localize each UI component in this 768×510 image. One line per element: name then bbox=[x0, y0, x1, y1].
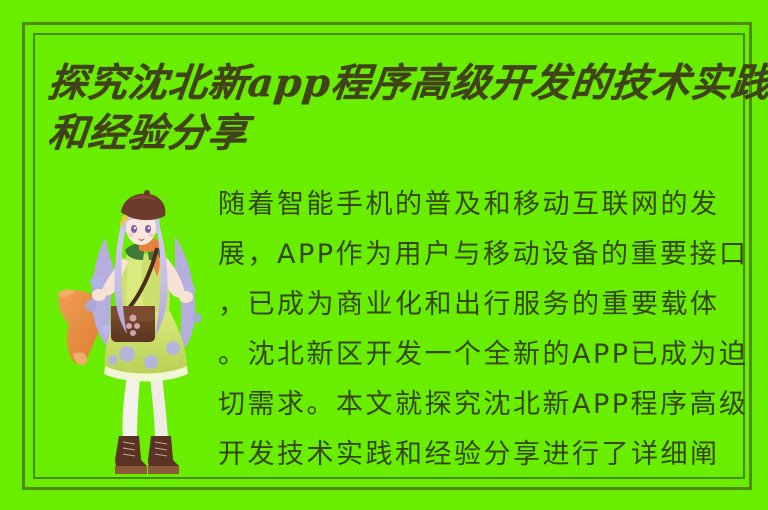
body-line-6: 开发技术实践和经验分享进行了详细阐 bbox=[218, 430, 738, 480]
boots bbox=[115, 436, 179, 474]
body-line-4: 。沈北新区开发一个全新的APP已成为迫 bbox=[218, 330, 738, 380]
body-line-2: 展，APP作为用户与移动设备的重要接口 bbox=[218, 230, 738, 280]
article-title: 探究沈北新app程序高级开发的技术实践 和经验分享 bbox=[48, 58, 748, 158]
body-line-3: ，已成为商业化和出行服务的重要载体 bbox=[218, 280, 738, 330]
title-line-2: 和经验分享 bbox=[45, 108, 750, 158]
article-body: 随着智能手机的普及和移动互联网的发 展，APP作为用户与移动设备的重要接口 ，已… bbox=[218, 180, 738, 480]
poster-canvas: 探究沈北新app程序高级开发的技术实践 和经验分享 bbox=[0, 0, 768, 510]
anime-girl-with-fox-illustration bbox=[55, 178, 225, 478]
body-line-1: 随着智能手机的普及和移动互联网的发 bbox=[218, 180, 738, 230]
body-line-5: 切需求。本文就探究沈北新APP程序高级 bbox=[218, 380, 738, 430]
title-line-1: 探究沈北新app程序高级开发的技术实践 bbox=[45, 58, 750, 108]
